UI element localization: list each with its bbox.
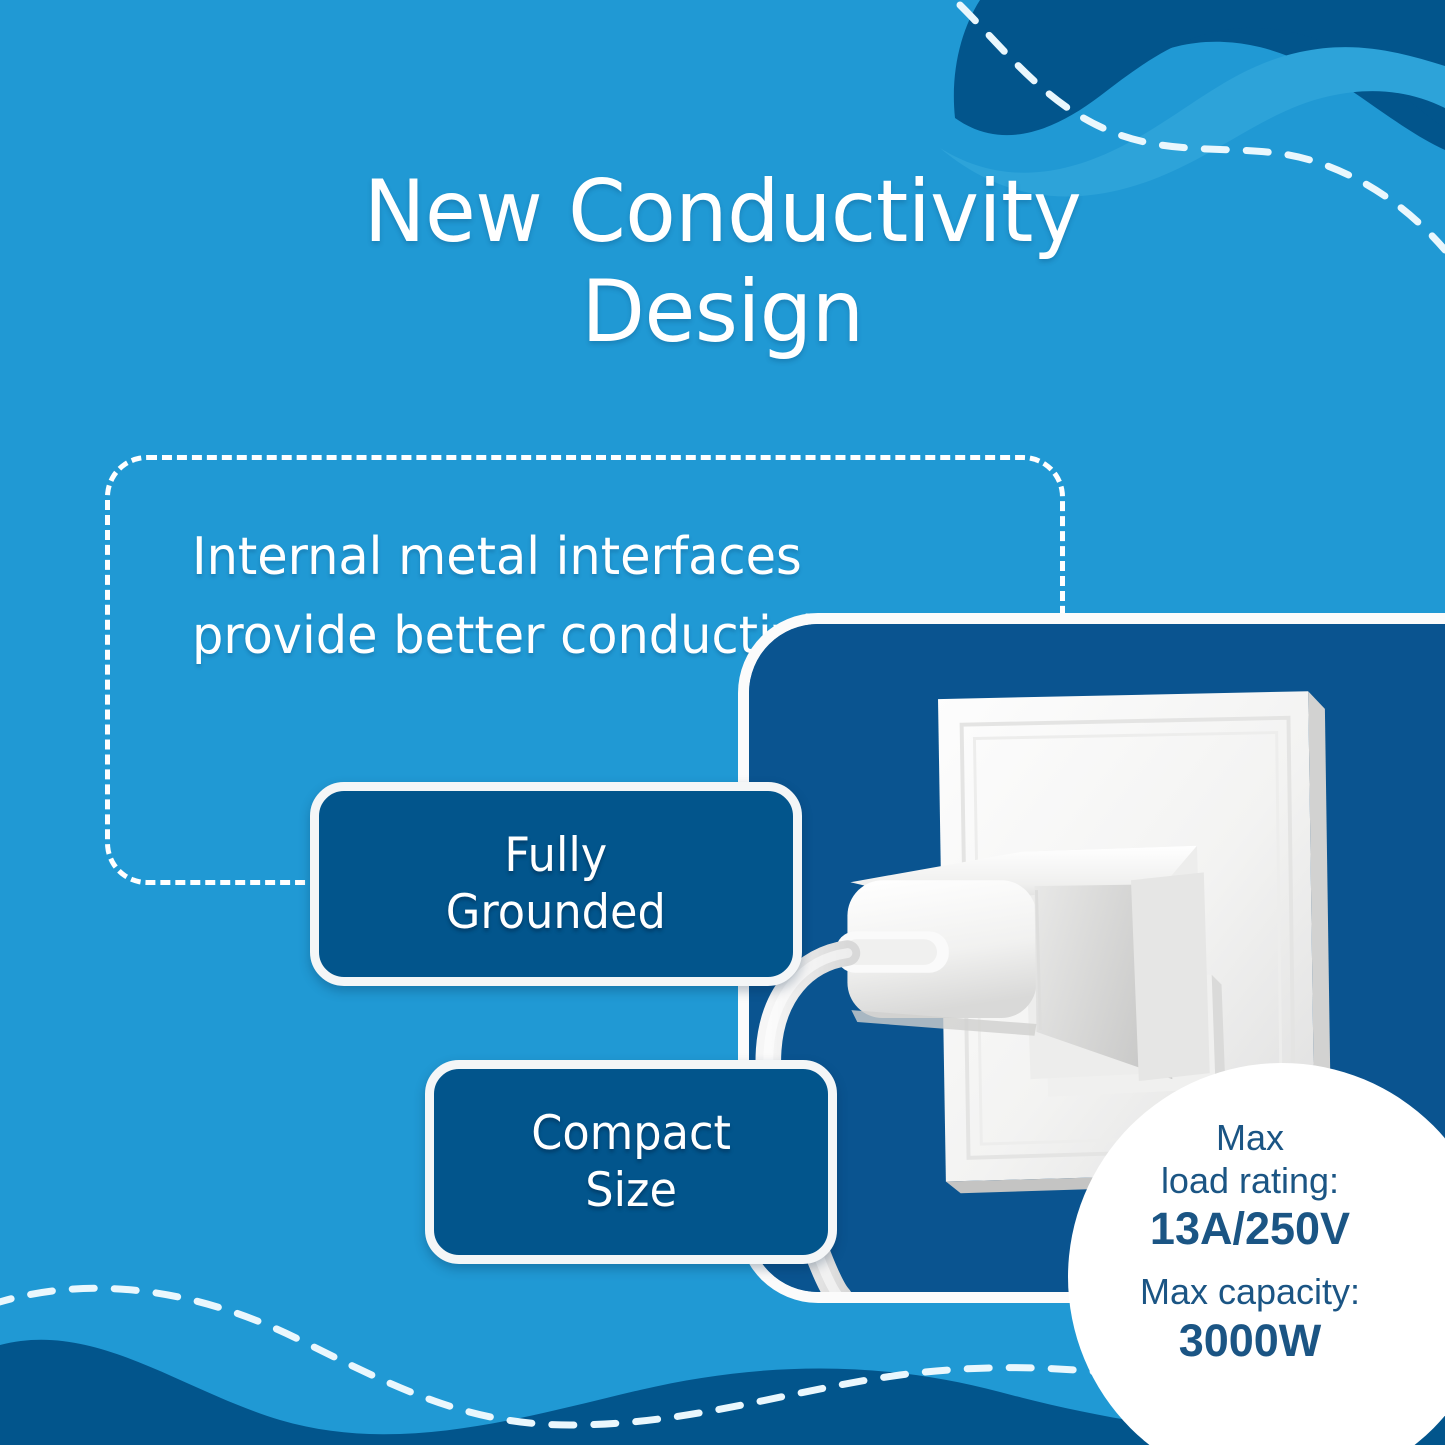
badge-line-1: Fully bbox=[505, 828, 608, 883]
bottom-left-dashed-curve bbox=[0, 1288, 1250, 1425]
page-title: New Conductivity Design bbox=[144, 163, 1301, 363]
max-load-rating-label: Max load rating: bbox=[1161, 1117, 1339, 1202]
feature-badge-compact-size-label: Compact Size bbox=[531, 1105, 731, 1220]
infographic-canvas: New Conductivity Design Internal metal i… bbox=[0, 0, 1445, 1445]
feature-badge-fully-grounded[interactable]: Fully Grounded bbox=[310, 782, 802, 986]
top-right-navy-wave-large bbox=[954, 0, 1445, 135]
max-capacity-label: Max capacity: bbox=[1140, 1271, 1360, 1313]
badge-line-2: Size bbox=[585, 1163, 677, 1218]
badge-line-1: Compact bbox=[531, 1106, 731, 1161]
top-right-navy-wave-shape bbox=[960, 0, 1445, 150]
feature-badge-compact-size[interactable]: Compact Size bbox=[425, 1060, 837, 1264]
page-title-line-1: New Conductivity bbox=[144, 163, 1301, 263]
max-load-rating-value: 13A/250V bbox=[1150, 1202, 1350, 1257]
max-capacity-value: 3000W bbox=[1179, 1314, 1322, 1369]
max-load-rating-label-line-1: Max bbox=[1216, 1117, 1284, 1158]
page-title-line-2: Design bbox=[144, 263, 1301, 363]
feature-badge-fully-grounded-label: Fully Grounded bbox=[446, 827, 666, 942]
badge-line-2: Grounded bbox=[446, 885, 666, 940]
max-load-rating-label-line-2: load rating: bbox=[1161, 1160, 1339, 1201]
